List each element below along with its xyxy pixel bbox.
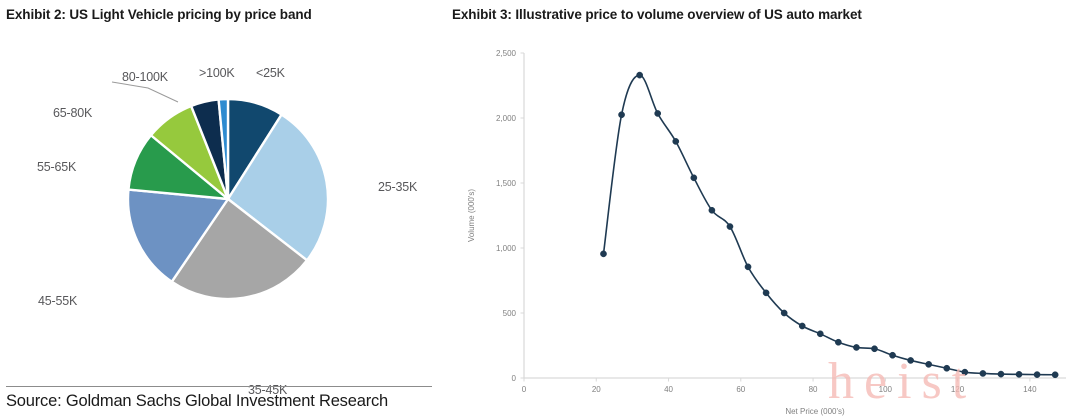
pie-label-45-55k: 45-55K xyxy=(38,294,77,308)
x-axis-tick-labels: 020406080100120140 xyxy=(522,378,1037,394)
data-point-19 xyxy=(944,365,950,371)
screenshot-root: Exhibit 2: US Light Vehicle pricing by p… xyxy=(0,0,1080,417)
data-series-layer xyxy=(600,72,1058,378)
data-point-11 xyxy=(799,323,805,329)
exhibit-3-title: Exhibit 3: Illustrative price to volume … xyxy=(452,7,862,22)
source-text: Source: Goldman Sachs Global Investment … xyxy=(6,392,388,411)
y-axis-title: Volume (000's) xyxy=(467,189,476,242)
pie-label-80-100k: 80-100K xyxy=(122,70,168,84)
data-point-3 xyxy=(655,110,661,116)
exhibit-2-title: Exhibit 2: US Light Vehicle pricing by p… xyxy=(6,7,312,22)
data-point-23 xyxy=(1016,371,1022,377)
line-chart-svg: 05001,0001,5002,0002,500 020406080100120… xyxy=(452,26,1080,417)
data-point-24 xyxy=(1034,372,1040,378)
data-point-22 xyxy=(998,371,1004,377)
pie-slices xyxy=(128,99,328,299)
y-tick-0: 0 xyxy=(512,374,517,383)
data-point-18 xyxy=(926,361,932,367)
chart-axes xyxy=(524,53,1066,378)
data-point-0 xyxy=(600,251,606,257)
y-axis-tick-labels: 05001,0001,5002,0002,500 xyxy=(496,49,524,383)
data-point-2 xyxy=(637,72,643,78)
pie-chart-panel: <25K25-35K35-45K45-55K55-65K65-80K80-100… xyxy=(0,26,446,386)
data-point-1 xyxy=(618,112,624,118)
x-axis-title: Net Price (000's) xyxy=(785,407,845,416)
data-point-7 xyxy=(727,223,733,229)
leader-line-65-80k xyxy=(112,82,178,102)
data-point-4 xyxy=(673,138,679,144)
y-tick-3: 1,500 xyxy=(496,179,517,188)
x-tick-6: 120 xyxy=(951,385,965,394)
x-tick-0: 0 xyxy=(522,385,527,394)
pie-label-25-35k: 25-35K xyxy=(378,180,417,194)
data-point-21 xyxy=(980,370,986,376)
data-point-15 xyxy=(871,346,877,352)
data-point-6 xyxy=(709,207,715,213)
x-tick-7: 140 xyxy=(1023,385,1037,394)
data-point-8 xyxy=(745,264,751,270)
data-point-12 xyxy=(817,331,823,337)
data-point-5 xyxy=(691,175,697,181)
x-tick-2: 40 xyxy=(664,385,673,394)
x-tick-3: 60 xyxy=(736,385,745,394)
data-point-13 xyxy=(835,339,841,345)
y-tick-5: 2,500 xyxy=(496,49,517,58)
y-tick-2: 1,000 xyxy=(496,244,517,253)
data-point-14 xyxy=(853,344,859,350)
x-tick-5: 100 xyxy=(879,385,893,394)
source-divider xyxy=(6,386,432,387)
pie-label-100k: >100K xyxy=(199,66,235,80)
pie-label-25k: <25K xyxy=(256,66,285,80)
data-point-25 xyxy=(1052,372,1058,378)
pie-chart-svg xyxy=(0,26,446,386)
pie-label-65-80k: 65-80K xyxy=(53,106,92,120)
series-line-0 xyxy=(603,75,1055,375)
pie-label-55-65k: 55-65K xyxy=(37,160,76,174)
x-tick-4: 80 xyxy=(809,385,818,394)
x-tick-1: 20 xyxy=(592,385,601,394)
y-tick-1: 500 xyxy=(503,309,517,318)
line-chart-panel: 05001,0001,5002,0002,500 020406080100120… xyxy=(452,26,1080,417)
data-point-20 xyxy=(962,369,968,375)
data-point-16 xyxy=(889,352,895,358)
y-tick-4: 2,000 xyxy=(496,114,517,123)
data-point-10 xyxy=(781,310,787,316)
data-point-17 xyxy=(908,357,914,363)
data-point-9 xyxy=(763,290,769,296)
pie-leader-lines xyxy=(112,82,178,102)
